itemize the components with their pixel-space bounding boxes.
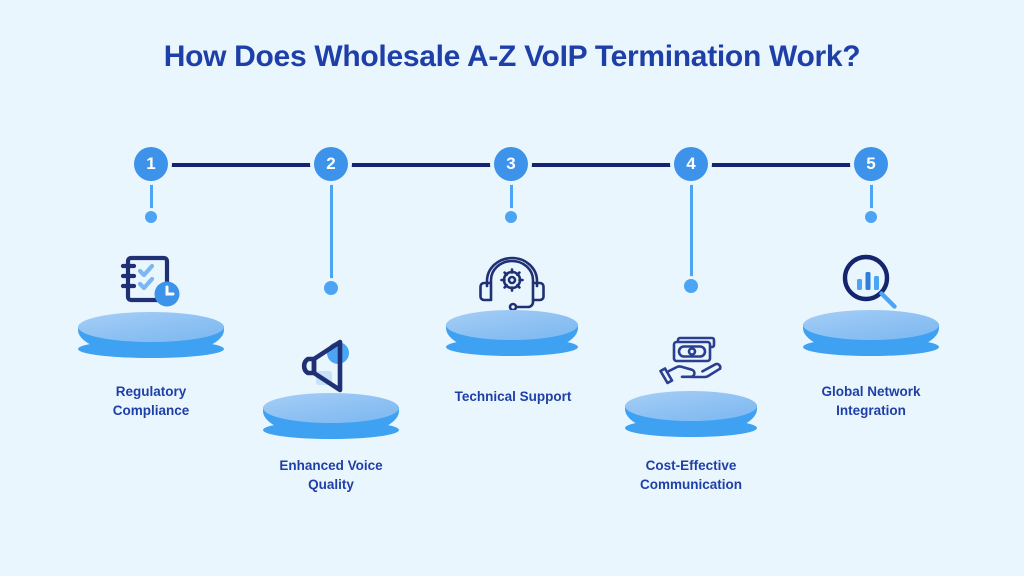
pedestal-1 [78,312,224,360]
step-card-1[interactable] [78,312,224,360]
pedestal-side-cap [625,419,757,437]
timeline-node-3[interactable]: 3 [494,147,528,181]
page-title: How Does Wholesale A-Z VoIP Termination … [0,40,1024,74]
pedestal-side-cap [446,338,578,356]
pedestal-4 [625,391,757,437]
drop-line-2 [330,178,333,286]
step-card-4[interactable] [625,391,757,437]
headset-gear-icon [477,252,547,310]
infographic-canvas: How Does Wholesale A-Z VoIP Termination … [0,0,1024,576]
pedestal-top [263,393,399,423]
timeline-node-label: 1 [146,154,155,174]
pedestal-2 [263,393,399,439]
step-card-2[interactable] [263,393,399,439]
timeline-node-5[interactable]: 5 [854,147,888,181]
step-label-2: Enhanced Voice Quality [246,456,416,494]
hand-holding-money-icon [656,333,728,391]
notepad-checklist-clock-icon [116,250,186,310]
step-card-3[interactable] [446,310,578,356]
pedestal-3 [446,310,578,356]
pedestal-top [625,391,757,421]
timeline-node-1[interactable]: 1 [134,147,168,181]
step-card-5[interactable] [803,310,939,356]
pedestal-top [803,310,939,340]
pedestal-top [78,312,224,342]
timeline-node-label: 5 [866,154,875,174]
megaphone-icon [296,331,366,393]
step-label-1: Regulatory Compliance [66,382,236,420]
timeline-node-label: 3 [506,154,515,174]
timeline-node-2[interactable]: 2 [314,147,348,181]
drop-dot-2 [324,281,338,295]
magnifier-bar-chart-icon [836,252,904,312]
pedestal-side-cap [78,340,224,358]
step-label-5: Global Network Integration [786,382,956,420]
timeline-node-label: 2 [326,154,335,174]
drop-dot-5 [865,211,877,223]
pedestal-side-cap [803,338,939,356]
pedestal-5 [803,310,939,356]
drop-dot-3 [505,211,517,223]
timeline-node-4[interactable]: 4 [674,147,708,181]
step-label-3: Technical Support [428,387,598,406]
pedestal-top [446,310,578,340]
drop-line-4 [690,178,693,284]
drop-dot-1 [145,211,157,223]
pedestal-side-cap [263,421,399,439]
timeline-node-label: 4 [686,154,695,174]
step-label-4: Cost-Effective Communication [606,456,776,494]
drop-dot-4 [684,279,698,293]
